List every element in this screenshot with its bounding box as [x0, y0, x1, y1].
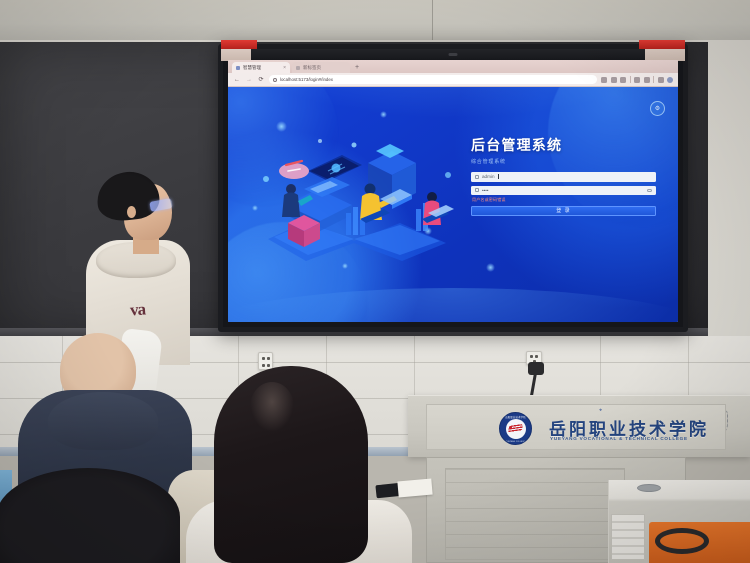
login-error-message: 用户名或密码错误 — [472, 197, 656, 203]
sticker-tab-right — [639, 40, 685, 49]
audience-dark-hair — [0, 468, 180, 563]
sticker-tab-left — [221, 40, 257, 49]
coiled-cable — [655, 528, 709, 554]
upper-wall — [0, 0, 750, 42]
login-page: ⚙ — [228, 87, 678, 322]
login-form: 后台管理系统 综合管理系统 admin •••• 用户名或密码错误 登 录 — [471, 135, 656, 216]
downloads-icon[interactable] — [634, 77, 640, 83]
registered-mark-icon: ❖ — [599, 408, 602, 412]
split-screen-icon[interactable] — [644, 77, 650, 83]
new-tab-button[interactable]: + — [352, 62, 362, 73]
login-submit-button[interactable]: 登 录 — [471, 206, 656, 216]
extensions-icon[interactable] — [611, 77, 617, 83]
tab-title: 智慧管理 — [243, 65, 261, 71]
glow-dot — [486, 263, 495, 272]
desk-cable-grommet — [637, 484, 661, 492]
username-input[interactable]: admin — [471, 172, 656, 182]
browser-tab-inactive[interactable]: 新标签页 — [292, 62, 350, 73]
forward-icon[interactable]: → — [245, 77, 253, 83]
menu-kebab-icon[interactable] — [667, 77, 673, 83]
page-title: 后台管理系统 — [471, 135, 656, 155]
classroom-scene: 智慧管理 × 新标签页 + ← → ⟳ localhost:5173/login… — [0, 0, 750, 563]
page-icon — [236, 66, 240, 70]
audience-hood — [48, 392, 158, 450]
glow-dot — [380, 111, 387, 118]
side-desk — [608, 480, 750, 563]
page-icon — [296, 66, 300, 70]
display-bezel-top — [223, 49, 683, 60]
paper-on-lectern — [397, 479, 432, 498]
lectern-top: 岳阳职业技术学院 YUEYANG COLLEGE ❖ 岳阳职业技术学院 YUEY… — [408, 395, 750, 457]
profile-avatar-icon[interactable] — [658, 77, 664, 83]
translate-icon[interactable] — [601, 77, 607, 83]
crest-text-bottom: YUEYANG COLLEGE — [500, 441, 531, 443]
hoodie-logo-text: va — [129, 300, 145, 321]
reload-icon[interactable]: ⟳ — [257, 76, 265, 83]
settings-gear-icon[interactable]: ⚙ — [650, 101, 665, 116]
college-nameplate: 岳阳职业技术学院 YUEYANG COLLEGE ❖ 岳阳职业技术学院 YUEY… — [426, 404, 726, 450]
password-value: •••• — [482, 188, 488, 193]
url-input[interactable]: localhost:5173/login#/index — [269, 75, 597, 84]
browser-window: 智慧管理 × 新标签页 + ← → ⟳ localhost:5173/login… — [228, 60, 678, 322]
toolbar-divider — [653, 76, 654, 83]
browser-tab-active[interactable]: 智慧管理 × — [232, 62, 290, 73]
eye-icon[interactable] — [647, 189, 652, 193]
back-icon[interactable]: ← — [233, 77, 241, 83]
tab-title: 新标签页 — [303, 65, 321, 71]
browser-toolbar-icons — [601, 76, 673, 83]
page-subtitle: 综合管理系统 — [471, 158, 656, 165]
text-caret — [498, 174, 499, 179]
presenter-ear — [127, 206, 136, 218]
password-input[interactable]: •••• — [471, 186, 656, 196]
lectern-cabinet-door[interactable] — [445, 468, 625, 560]
url-text: localhost:5173/login#/index — [280, 77, 333, 82]
info-circle-icon[interactable] — [273, 78, 277, 82]
desk-shelf-slots — [611, 514, 645, 560]
lock-icon — [475, 188, 479, 192]
browser-omnibar: ← → ⟳ localhost:5173/login#/index — [228, 73, 678, 87]
college-name-en: YUEYANG VOCATIONAL & TECHNICAL COLLEGE — [550, 436, 688, 441]
crest-text-top: 岳阳职业技术学院 — [500, 415, 531, 419]
username-value: admin — [482, 174, 495, 179]
hair-highlight — [250, 382, 294, 432]
display-camera-icon — [449, 53, 458, 56]
college-crest-icon: 岳阳职业技术学院 YUEYANG COLLEGE — [499, 412, 532, 445]
bookmark-star-icon[interactable] — [620, 77, 626, 83]
toolbar-divider — [630, 76, 631, 83]
smart-display: 智慧管理 × 新标签页 + ← → ⟳ localhost:5173/login… — [218, 44, 688, 332]
user-icon — [475, 175, 479, 179]
close-icon[interactable]: × — [283, 65, 286, 71]
browser-tabstrip: 智慧管理 × 新标签页 + — [228, 60, 678, 73]
wall-seam — [432, 0, 433, 42]
isometric-office-workstation-illustration — [250, 127, 468, 267]
